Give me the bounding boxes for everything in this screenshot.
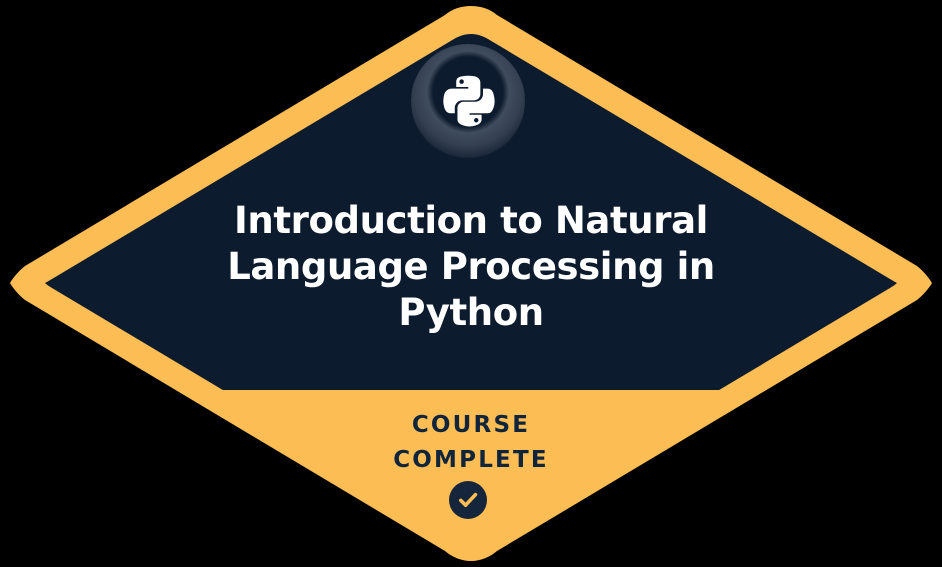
badge-diamond-shape [0,0,942,567]
course-completion-badge: Introduction to Natural Language Process… [0,0,942,567]
